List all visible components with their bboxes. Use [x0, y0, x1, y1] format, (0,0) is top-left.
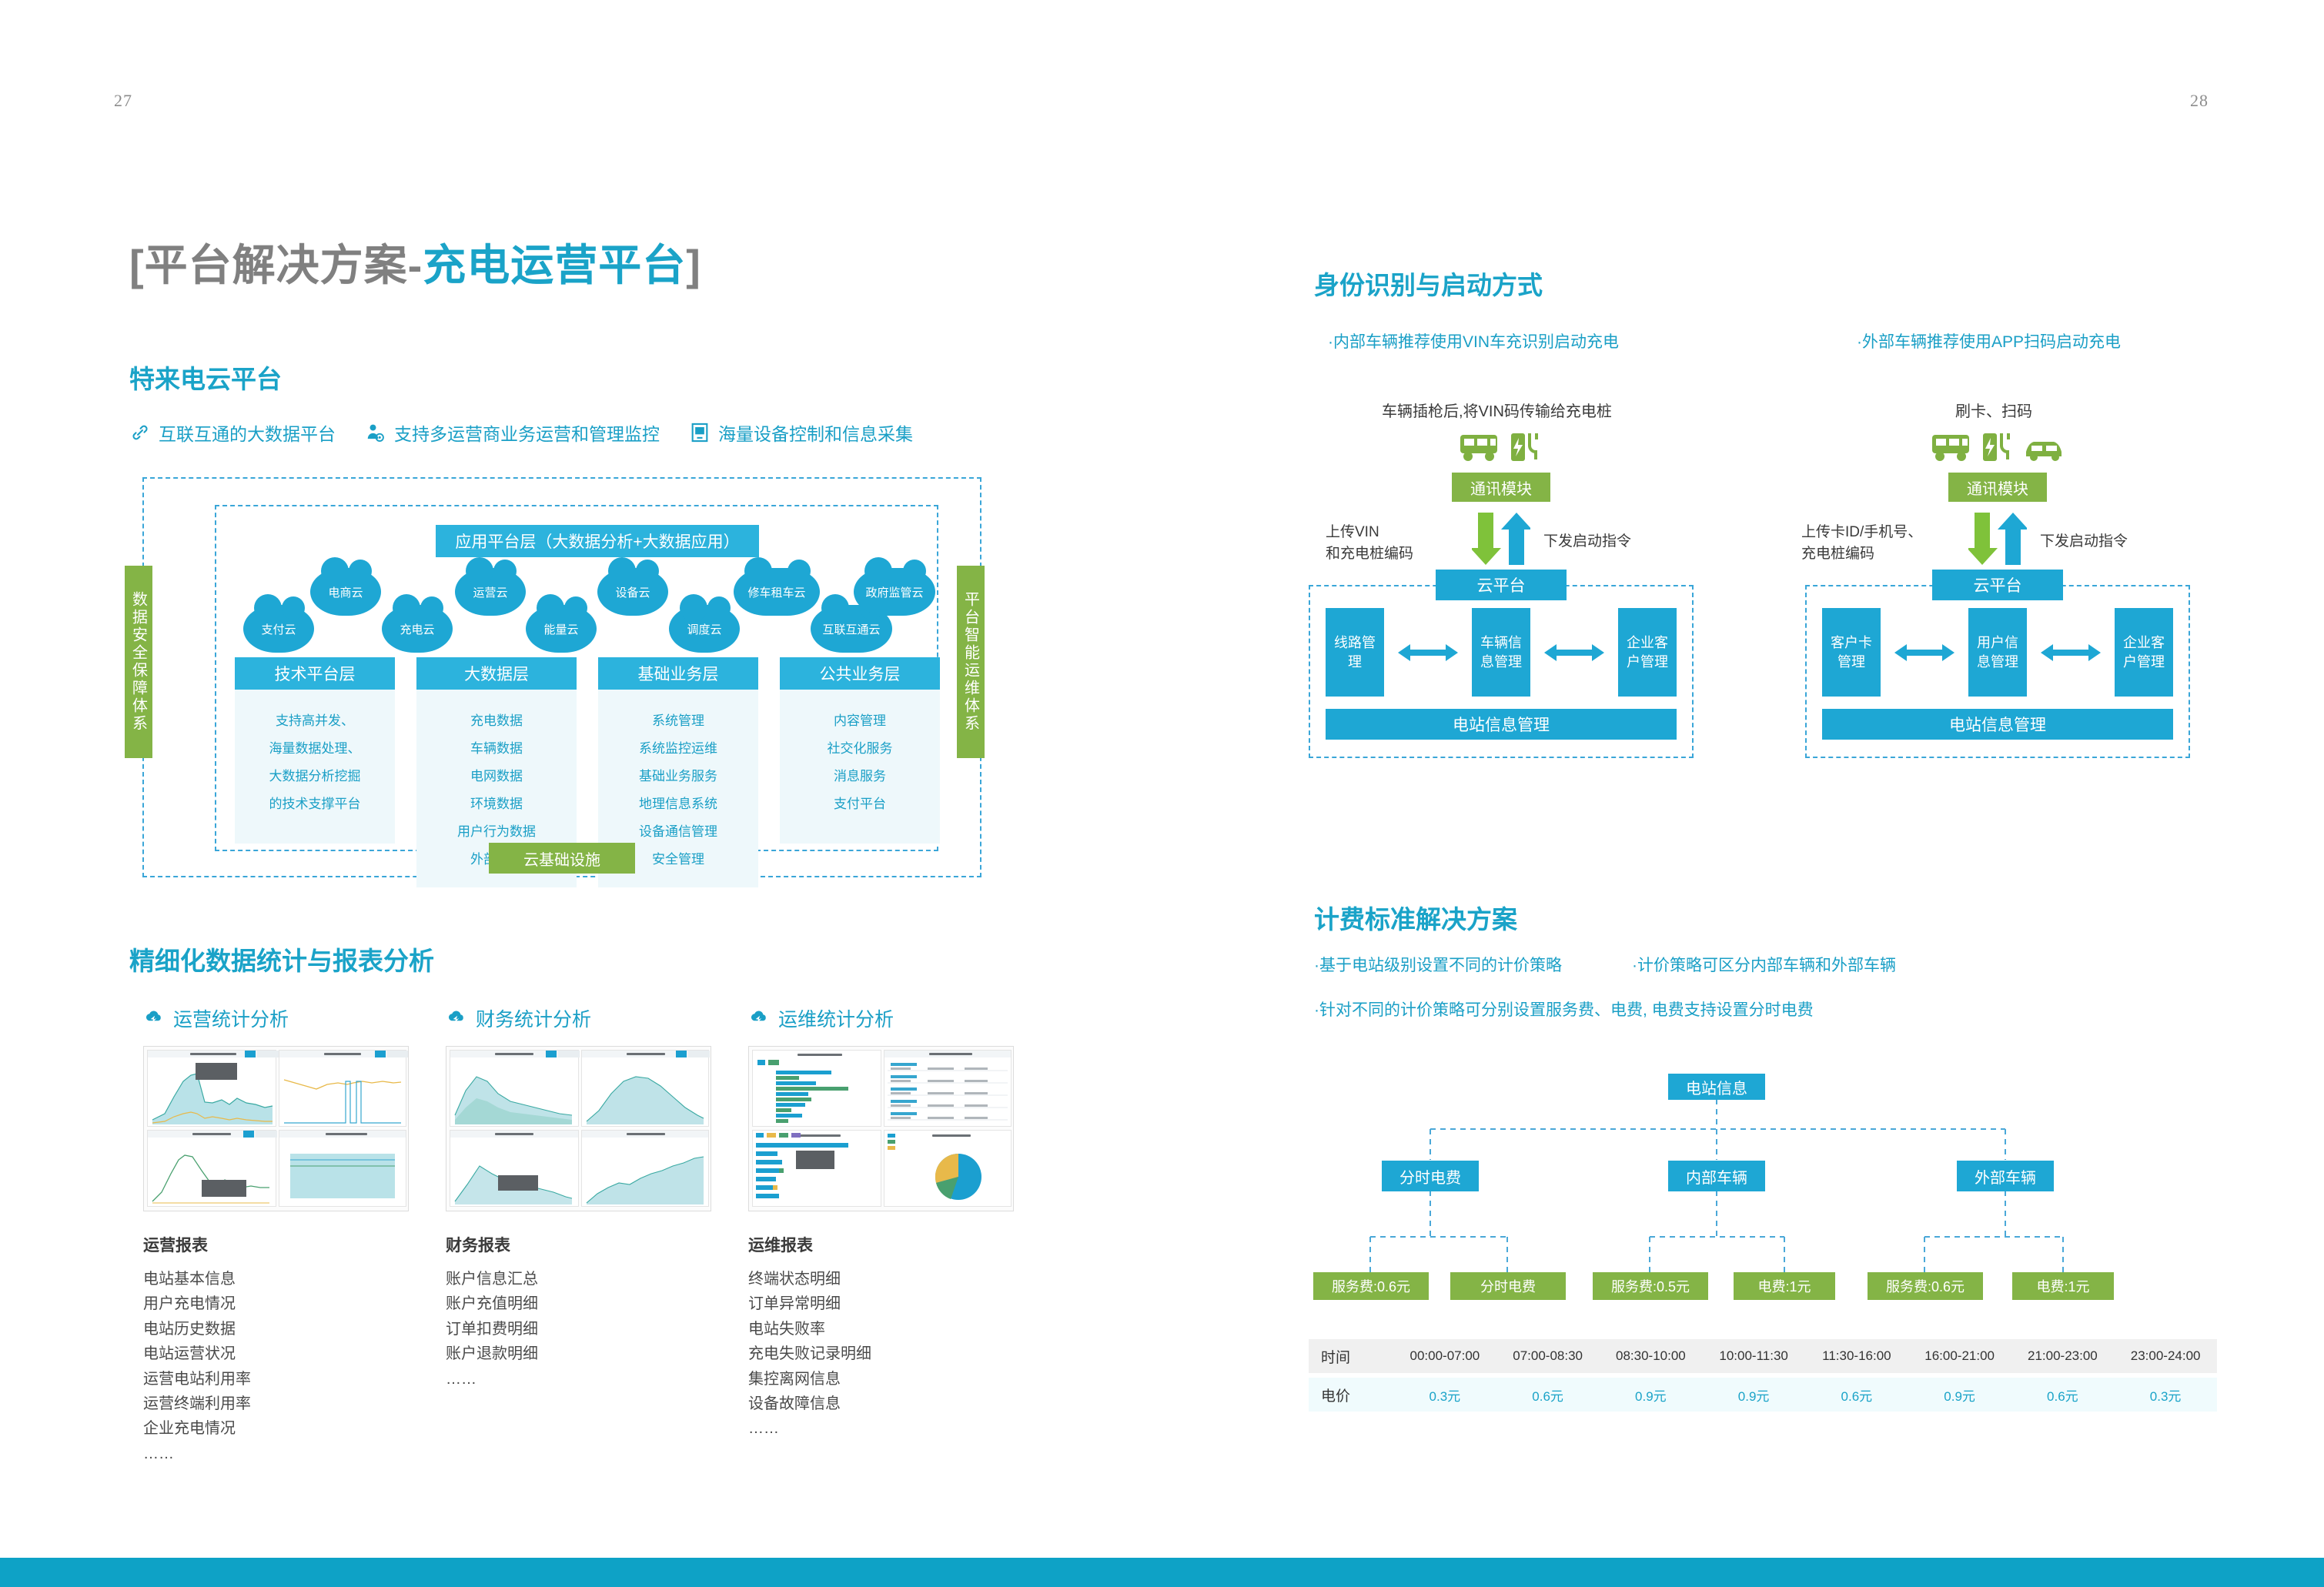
side-label-platform-ops: 平台智能运维体系 [957, 566, 985, 758]
report-item-list: 账户信息汇总 账户充值明细 订单扣费明细 账户退款明细 …… [446, 1267, 711, 1392]
layer-item: 消息服务 [834, 765, 886, 784]
table-cell: 21:00-23:00 [2011, 1348, 2115, 1364]
feature-label: 海量设备控制和信息采集 [718, 419, 913, 446]
layer-item: 设备通信管理 [639, 820, 717, 840]
layer-header: 基础业务层 [598, 657, 758, 690]
layer-item: 安全管理 [652, 848, 704, 867]
vehicle-icon-group [1309, 423, 1694, 466]
layer-item: 支持高并发、 [276, 710, 354, 729]
layer-item: 电网数据 [470, 765, 523, 784]
module-row: 客户卡管理 用户信息管理 企业客户管理 [1822, 608, 2173, 697]
layer-item: 支付平台 [834, 793, 886, 812]
list-item: …… [748, 1416, 1014, 1441]
table-cell: 11:30-16:00 [1805, 1348, 1908, 1364]
dashboard-screenshot-maintenance[interactable] [748, 1046, 1014, 1211]
tree-node: 内部车辆 [1668, 1161, 1765, 1191]
layer-item: 大数据分析挖掘 [269, 765, 361, 784]
table-cell: 10:00-11:30 [1702, 1348, 1805, 1364]
tree-leaf: 服务费:0.5元 [1593, 1272, 1708, 1300]
bus-icon [1931, 432, 1972, 466]
report-item-list: 电站基本信息 用户充电情况 电站历史数据 电站运营状况 运营电站利用率 运营终端… [143, 1267, 409, 1466]
report-columns: 运营统计分析 [143, 1004, 1014, 1466]
table-cell: 00:00-07:00 [1393, 1348, 1496, 1364]
report-title: 运维报表 [748, 1233, 1014, 1256]
layer-item: 基础业务服务 [639, 765, 717, 784]
cloud-platform-box: 云平台 [1436, 570, 1567, 600]
table-cell: 0.9元 [1600, 1385, 1703, 1405]
section-heading-identity: 身份识别与启动方式 [1314, 265, 1543, 302]
link-icon [129, 422, 151, 443]
billing-bullet-2: ·计价策略可区分内部车辆和外部车辆 [1632, 953, 1896, 976]
cloud-node: 电商云 [310, 568, 381, 616]
layer-tech: 技术平台层 支持高并发、 海量数据处理、 大数据分析挖掘 的技术支撑平台 [235, 657, 395, 887]
list-item: 账户充值明细 [446, 1291, 711, 1316]
layer-item: 系统监控运维 [639, 737, 717, 757]
table-cell: 0.3元 [1393, 1385, 1496, 1405]
billing-bullet-1: ·基于电站级别设置不同的计价策略 [1314, 953, 1562, 976]
app-platform-layer-band: 应用平台层（大数据分析+大数据应用） [436, 525, 759, 557]
tree-leaf: 分时电费 [1450, 1272, 1566, 1300]
architecture-inner-frame: 应用平台层（大数据分析+大数据应用） 支付云 电商云 充电云 运营云 能量云 设… [215, 505, 938, 851]
page-title: [平台解决方案-充电运营平台] [129, 231, 701, 293]
layer-item: 的技术支撑平台 [269, 793, 361, 812]
list-item: 用户充电情况 [143, 1291, 409, 1316]
arrow-label-up: 上传VIN 和充电桩编码 [1326, 522, 1413, 564]
feature-label: 支持多运营商业务运营和管理监控 [394, 419, 660, 446]
layer-item: 内容管理 [834, 710, 886, 729]
tree-leaf: 服务费:0.6元 [1868, 1272, 1983, 1300]
cloud-analytics-icon [446, 1007, 467, 1029]
station-info-box: 电站信息管理 [1326, 709, 1677, 740]
layer-header: 公共业务层 [780, 657, 940, 690]
cloud-infrastructure-box: 云基础设施 [489, 843, 635, 874]
list-item: 电站历史数据 [143, 1317, 409, 1341]
list-item: 账户退款明细 [446, 1341, 711, 1366]
footer-bar [0, 1558, 2324, 1587]
table-cell: 0.9元 [1908, 1385, 2011, 1405]
cloud-node: 设备云 [597, 568, 668, 616]
vehicle-icon-group [1805, 423, 2190, 466]
layer-item: 车辆数据 [470, 737, 523, 757]
charger-icon [1981, 432, 2015, 466]
feature-list: 互联互通的大数据平台 支持多运营商业务运营和管理监控 海量设备控制和信息采集 [129, 419, 913, 446]
price-table: 时间 00:00-07:00 07:00-08:30 08:30-10:00 1… [1309, 1339, 2217, 1412]
table-cell: 0.6元 [1805, 1385, 1908, 1405]
layer-header: 技术平台层 [235, 657, 395, 690]
report-title: 运营报表 [143, 1233, 409, 1256]
tree-leaf: 电费:1元 [2012, 1272, 2114, 1300]
layer-item: 充电数据 [470, 710, 523, 729]
cloud-node: 政府监管云 [854, 568, 935, 616]
bidirectional-arrow-icon [1544, 643, 1604, 663]
bus-icon [1459, 432, 1500, 466]
module-row: 线路管理 车辆信息管理 企业客户管理 [1326, 608, 1677, 697]
comm-module-box: 通讯模块 [1948, 473, 2047, 502]
table-cell: 0.3元 [2114, 1385, 2217, 1405]
cloud-nodes: 支付云 电商云 充电云 运营云 能量云 设备云 调度云 修车租车云 互联互通云 … [224, 568, 932, 653]
billing-tree-diagram: 电站信息 分时电费 内部车辆 外部车辆 服务费:0.6元 分时电费 服务费:0.… [1309, 1074, 2217, 1312]
station-info-box: 电站信息管理 [1822, 709, 2173, 740]
user-settings-icon [365, 422, 386, 443]
list-item: …… [446, 1367, 711, 1392]
cloud-node: 充电云 [382, 605, 453, 653]
list-item: 订单扣费明细 [446, 1317, 711, 1341]
cloud-platform-modules: 线路管理 车辆信息管理 企业客户管理 电站信息管理 [1309, 585, 1694, 758]
list-item: 订单异常明细 [748, 1291, 1014, 1316]
flow-diagram-external: 通讯模块 上传卡ID/手机号、 充电桩编码 下发启动指令 云平台 客户卡管理 用… [1805, 423, 2190, 758]
table-cell: 0.9元 [1702, 1385, 1805, 1405]
list-item: 电站运营状况 [143, 1341, 409, 1366]
cloud-node: 修车租车云 [734, 568, 820, 616]
layer-body: 支持高并发、 海量数据处理、 大数据分析挖掘 的技术支撑平台 [235, 690, 395, 844]
tree-node: 外部车辆 [1957, 1161, 2054, 1191]
cloud-node: 调度云 [669, 605, 740, 653]
module-box: 车辆信息管理 [1472, 608, 1530, 697]
identity-bullet-external: ·外部车辆推荐使用APP扫码启动充电 [1857, 329, 2121, 352]
module-box: 用户信息管理 [1968, 608, 2027, 697]
dashboard-screenshot-operations[interactable] [143, 1046, 409, 1211]
section-heading-billing: 计费标准解决方案 [1314, 899, 1517, 936]
bidirectional-arrow-icon [1894, 643, 1955, 663]
page-number-right: 28 [2190, 91, 2209, 111]
dashboard-screenshot-finance[interactable] [446, 1046, 711, 1211]
flow-diagram-internal: 通讯模块 上传VIN 和充电桩编码 下发启动指令 云平台 线路管理 车辆信息管理 [1309, 423, 1694, 758]
flow-caption-external: 刷卡、扫码 [1955, 399, 2032, 421]
report-heading-label: 运维统计分析 [778, 1004, 894, 1032]
charger-icon [1510, 432, 1543, 466]
report-column-operations: 运营统计分析 [143, 1004, 409, 1466]
module-box: 线路管理 [1326, 608, 1384, 697]
report-heading: 财务统计分析 [446, 1004, 711, 1032]
cloud-node: 能量云 [526, 605, 597, 653]
billing-bullet-3: ·针对不同的计价策略可分别设置服务费、电费, 电费支持设置分时电费 [1314, 997, 1814, 1021]
report-title: 财务报表 [446, 1233, 711, 1256]
list-item: 账户信息汇总 [446, 1267, 711, 1291]
cloud-analytics-icon [748, 1007, 770, 1029]
list-item: 运营终端利用率 [143, 1392, 409, 1416]
layer-body: 内容管理 社交化服务 消息服务 支付平台 [780, 690, 940, 844]
layer-item: 系统管理 [652, 710, 704, 729]
architecture-diagram: 应用平台层（大数据分析+大数据应用） 支付云 电商云 充电云 运营云 能量云 设… [142, 477, 981, 877]
table-cell: 23:00-24:00 [2114, 1348, 2217, 1364]
report-column-maintenance: 运维统计分析 [748, 1004, 1014, 1466]
arrow-exchange-area: 上传VIN 和充电桩编码 下发启动指令 [1309, 511, 1694, 570]
feature-item: 海量设备控制和信息采集 [689, 419, 913, 446]
bidirectional-arrow-icon [2041, 643, 2101, 663]
layer-item: 用户行为数据 [457, 820, 536, 840]
arrow-label-down: 下发启动指令 [2040, 531, 2128, 553]
tree-root: 电站信息 [1668, 1074, 1765, 1100]
cloud-analytics-icon [143, 1007, 165, 1029]
page-number-left: 27 [114, 91, 132, 111]
arrow-label-down: 下发启动指令 [1543, 531, 1631, 553]
report-heading-label: 财务统计分析 [476, 1004, 591, 1032]
arrow-exchange-area: 上传卡ID/手机号、 充电桩编码 下发启动指令 [1805, 511, 2190, 570]
tree-node: 分时电费 [1382, 1161, 1479, 1191]
list-item: 企业充电情况 [143, 1416, 409, 1441]
flow-caption-internal: 车辆插枪后,将VIN码传输给充电桩 [1382, 399, 1612, 421]
list-item: 电站基本信息 [143, 1267, 409, 1291]
cloud-node: 运营云 [455, 568, 526, 616]
device-monitor-icon [689, 422, 711, 443]
layer-item: 环境数据 [470, 793, 523, 812]
feature-item: 支持多运营商业务运营和管理监控 [365, 419, 660, 446]
list-item: 终端状态明细 [748, 1267, 1014, 1291]
list-item: …… [143, 1442, 409, 1466]
bidirectional-arrow-icon [1398, 643, 1458, 663]
layer-header: 大数据层 [416, 657, 577, 690]
section-heading-reports: 精细化数据统计与报表分析 [129, 941, 434, 977]
brochure-spread: 27 28 [平台解决方案-充电运营平台] 特来电云平台 互联互通的大数据平台 … [0, 0, 2324, 1587]
list-item: 运营电站利用率 [143, 1367, 409, 1392]
module-box: 企业客户管理 [2115, 608, 2173, 697]
cloud-platform-modules: 客户卡管理 用户信息管理 企业客户管理 电站信息管理 [1805, 585, 2190, 758]
cloud-platform-box: 云平台 [1932, 570, 2063, 600]
page-title-highlight: 充电运营平台 [423, 241, 686, 289]
tree-leaf: 电费:1元 [1734, 1272, 1835, 1300]
arrow-label-up: 上传卡ID/手机号、 充电桩编码 [1801, 522, 1922, 564]
tree-leaf: 服务费:0.6元 [1313, 1272, 1429, 1300]
side-label-data-security: 数据安全保障体系 [125, 566, 152, 758]
table-cell: 07:00-08:30 [1496, 1348, 1600, 1364]
layer-item: 海量数据处理、 [269, 737, 361, 757]
page-title-tail: ] [686, 241, 701, 289]
report-heading: 运营统计分析 [143, 1004, 409, 1032]
module-box: 客户卡管理 [1822, 608, 1881, 697]
table-row-price: 电价 0.3元 0.6元 0.9元 0.9元 0.6元 0.9元 0.6元 0.… [1309, 1378, 2217, 1412]
car-icon [2025, 436, 2065, 466]
report-heading-label: 运营统计分析 [173, 1004, 289, 1032]
feature-item: 互联互通的大数据平台 [129, 419, 336, 446]
table-cell: 16:00-21:00 [1908, 1348, 2011, 1364]
report-heading: 运维统计分析 [748, 1004, 1014, 1032]
list-item: 集控离网信息 [748, 1367, 1014, 1392]
report-item-list: 终端状态明细 订单异常明细 电站失败率 充电失败记录明细 集控离网信息 设备故障… [748, 1267, 1014, 1442]
section-heading-platform: 特来电云平台 [129, 359, 282, 396]
report-column-finance: 财务统计分析 [446, 1004, 711, 1466]
table-cell: 08:30-10:00 [1600, 1348, 1703, 1364]
table-cell: 0.6元 [1496, 1385, 1600, 1405]
row-label: 电价 [1309, 1385, 1393, 1405]
row-label: 时间 [1309, 1346, 1393, 1367]
table-row-header: 时间 00:00-07:00 07:00-08:30 08:30-10:00 1… [1309, 1339, 2217, 1373]
layer-item: 地理信息系统 [639, 793, 717, 812]
layer-public-business: 公共业务层 内容管理 社交化服务 消息服务 支付平台 [780, 657, 940, 887]
list-item: 设备故障信息 [748, 1392, 1014, 1416]
list-item: 充电失败记录明细 [748, 1341, 1014, 1366]
list-item: 电站失败率 [748, 1317, 1014, 1341]
layer-item: 社交化服务 [828, 737, 893, 757]
page-title-plain: [平台解决方案- [129, 241, 423, 289]
module-box: 企业客户管理 [1618, 608, 1677, 697]
comm-module-box: 通讯模块 [1452, 473, 1550, 502]
identity-bullet-internal: ·内部车辆推荐使用VIN车充识别启动充电 [1328, 329, 1619, 352]
feature-label: 互联互通的大数据平台 [159, 419, 336, 446]
cloud-node: 支付云 [243, 605, 314, 653]
table-cell: 0.6元 [2011, 1385, 2115, 1405]
